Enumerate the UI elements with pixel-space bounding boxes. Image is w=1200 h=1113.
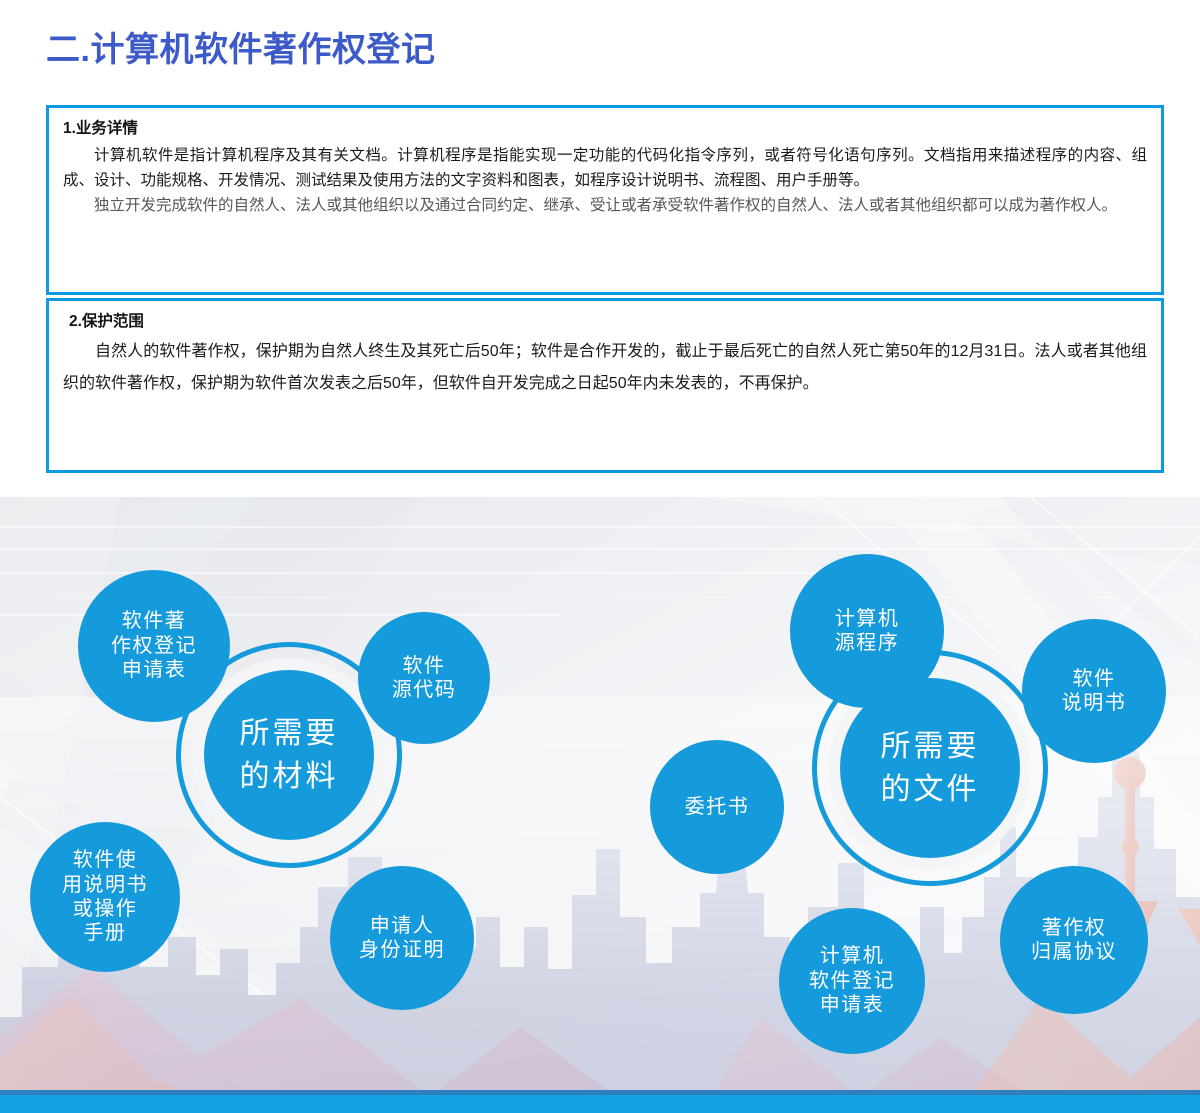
bubble-line: 申请表 [122, 658, 187, 682]
bubble-line: 或操作 [73, 897, 138, 921]
bubble-applicant-identity-proof[interactable]: 申请人 身份证明 [330, 866, 474, 1010]
bubble-line: 身份证明 [359, 938, 445, 962]
bubble-line: 的材料 [240, 755, 339, 799]
bubble-line: 软件著 [122, 609, 187, 633]
bubble-line: 计算机 [820, 944, 885, 968]
bubble-line: 软件使 [73, 848, 138, 872]
bubble-line: 委托书 [685, 795, 750, 819]
business-details-box: 1.业务详情 计算机软件是指计算机程序及其有关文档。计算机程序是指能实现一定功能… [46, 105, 1164, 295]
bubble-line: 的文件 [881, 768, 980, 812]
footer-accent-bar [0, 1095, 1200, 1113]
bubble-line: 著作权 [1042, 916, 1107, 940]
bubble-software-copyright-registration-form[interactable]: 软件著 作权登记 申请表 [78, 570, 230, 722]
bubble-line: 所需要 [881, 725, 980, 769]
bubble-line: 软件 [403, 654, 446, 678]
bubble-line: 源程序 [835, 631, 900, 655]
business-details-paragraph-2: 独立开发完成软件的自然人、法人或其他组织以及通过合同约定、继承、受让或者承受软件… [63, 193, 1147, 218]
bubble-line: 说明书 [1062, 691, 1127, 715]
protection-scope-paragraph-1: 自然人的软件著作权，保护期为自然人终生及其死亡后50年；软件是合作开发的，截止于… [63, 336, 1147, 400]
page-title: 二.计算机软件著作权登记 [46, 22, 435, 71]
bubble-line: 申请表 [820, 993, 885, 1017]
bubble-line: 申请人 [370, 914, 435, 938]
bubble-software-specification[interactable]: 软件 说明书 [1022, 619, 1166, 763]
bubble-line: 计算机 [835, 607, 900, 631]
bubble-copyright-ownership-agreement[interactable]: 著作权 归属协议 [1000, 866, 1148, 1014]
bubble-computer-software-registration-form[interactable]: 计算机 软件登记 申请表 [779, 908, 925, 1054]
bubble-center-required-documents[interactable]: 所需要 的文件 [840, 678, 1020, 858]
bubble-line: 软件登记 [809, 969, 895, 993]
bubble-power-of-attorney[interactable]: 委托书 [650, 740, 784, 874]
bubble-line: 作权登记 [111, 634, 197, 658]
protection-scope-box: 2.保护范围 自然人的软件著作权，保护期为自然人终生及其死亡后50年；软件是合作… [46, 298, 1164, 473]
bubble-center-required-materials[interactable]: 所需要 的材料 [204, 670, 374, 840]
page-root: 二.计算机软件著作权登记 1.业务详情 计算机软件是指计算机程序及其有关文档。计… [0, 0, 1200, 1113]
bubble-line: 软件 [1073, 667, 1116, 691]
bubble-line: 归属协议 [1031, 940, 1117, 964]
bubble-line: 手册 [84, 921, 127, 945]
business-details-paragraph-1: 计算机软件是指计算机程序及其有关文档。计算机程序是指能实现一定功能的代码化指令序… [63, 143, 1147, 193]
business-details-content: 1.业务详情 计算机软件是指计算机程序及其有关文档。计算机程序是指能实现一定功能… [49, 108, 1161, 228]
bubble-line: 所需要 [240, 712, 339, 756]
bubble-software-source-code[interactable]: 软件 源代码 [358, 612, 490, 744]
section-label-protection-scope: 2.保护范围 [69, 313, 1147, 332]
bubble-diagram-illustration: 软件著 作权登记 申请表 软件 源代码 软件使 用说明书 或操作 手册 申请人 … [0, 497, 1200, 1113]
section-label-business-details: 1.业务详情 [63, 120, 1147, 139]
bubble-line: 用说明书 [62, 873, 148, 897]
protection-scope-content: 2.保护范围 自然人的软件著作权，保护期为自然人终生及其死亡后50年；软件是合作… [49, 301, 1161, 410]
bubble-line: 源代码 [392, 678, 457, 702]
bubble-software-user-manual[interactable]: 软件使 用说明书 或操作 手册 [30, 822, 180, 972]
